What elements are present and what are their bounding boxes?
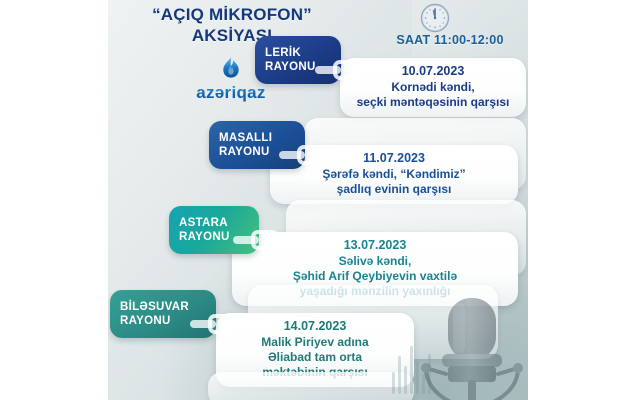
poster-canvas: “AÇIQ MİKROFON” AKSİYASI azəriqaz [108,0,528,400]
entry-place-line-1: Səlivə kəndi, [244,254,506,269]
entry-date: 10.07.2023 [352,63,514,79]
chain-link-icon [233,230,279,250]
rayon-name-line-1: ASTARA [179,216,249,230]
entry-place-line-2: Şəhid Arif Qeybiyevin vaxtilə [244,269,506,284]
entry-place-line-2: seçki məntəqəsinin qarşısı [352,95,514,110]
title-line-1: “AÇIQ MİKROFON” [114,5,350,25]
rayon-name-line-1: BİLƏSUVAR [120,300,206,314]
entry-place-line-2: Əliabad tam orta [228,350,402,365]
poster-stage: “AÇIQ MİKROFON” AKSİYASI azəriqaz [0,0,637,400]
time-label: SAAT 11:00-12:00 [372,33,528,47]
flame-icon [221,57,241,81]
rayon-pill-bilesuvar[interactable]: BİLƏSUVAR RAYONU [110,290,216,338]
entry-date: 13.07.2023 [244,237,506,253]
entry-place-line-1: Kornədi kəndi, [352,80,514,95]
entry-place-line-1: Şərəfə kəndi, “Kəndimiz” [282,167,506,182]
microphone-icon [412,284,528,400]
brand-wordmark: azəriqaz [170,83,292,103]
rayon-pill-lerik[interactable]: LERİK RAYONU [255,36,341,84]
chain-link-icon [279,145,325,165]
info-card-lerik: 10.07.2023 Kornədi kəndi, seçki məntəqəs… [340,58,526,117]
chain-link-icon [315,60,361,80]
entry-place-line-2: şadlıq evinin qarşısı [282,182,506,197]
rayon-pill-masalli[interactable]: MASALLI RAYONU [209,121,305,169]
entry-date: 14.07.2023 [228,318,402,334]
clock-icon [419,2,451,34]
rayon-name-line-1: MASALLI [219,131,295,145]
decor-card-bottom [208,372,414,400]
chain-link-icon [190,314,236,334]
rayon-name-line-1: LERİK [265,46,331,60]
entry-place-line-1: Malik Piriyev adına [228,335,402,350]
rayon-pill-astara[interactable]: ASTARA RAYONU [169,206,259,254]
